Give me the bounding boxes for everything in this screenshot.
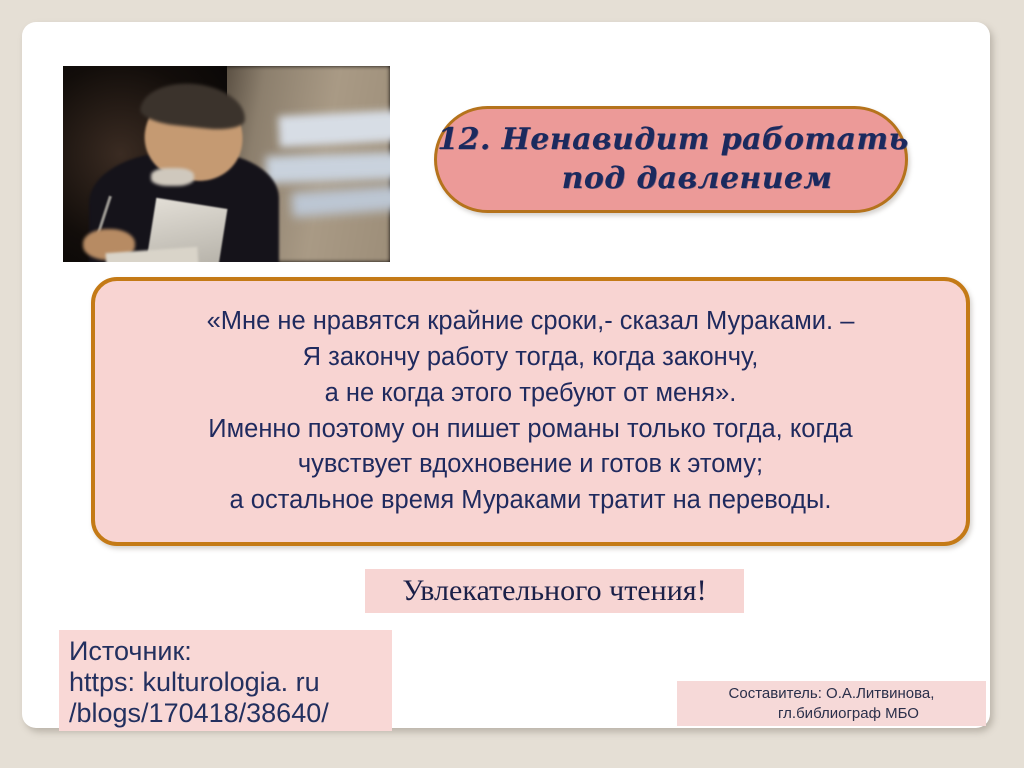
murakami-photo bbox=[63, 66, 390, 262]
compiler-role: гл.библиограф МБО bbox=[778, 704, 919, 724]
slide-card: 12. Ненавидит работать под давлением «Мн… bbox=[22, 22, 990, 728]
read-banner-text: Увлекательного чтения! bbox=[402, 576, 706, 606]
quote-box: «Мне не нравятся крайние сроки,- сказал … bbox=[91, 277, 970, 546]
quote-line: Я закончу работу тогда, когда закончу, bbox=[207, 340, 855, 376]
quote-line: чувствует вдохновение и готов к этому; bbox=[207, 447, 855, 483]
photo-paper-stack bbox=[265, 152, 390, 184]
source-url-line-1[interactable]: https: kulturologia. ru bbox=[69, 667, 392, 698]
photo-paper-stack bbox=[278, 110, 390, 148]
slide-title-line-1: 12. Ненавидит работать bbox=[437, 122, 908, 159]
quote-line: а остальное время Мураками тратит на пер… bbox=[207, 483, 855, 519]
source-box: Источник: https: kulturologia. ru /blogs… bbox=[59, 630, 392, 731]
quote-line: Именно поэтому он пишет романы только то… bbox=[207, 412, 855, 448]
read-banner: Увлекательного чтения! bbox=[365, 569, 744, 613]
compiler-name: Составитель: О.А.Литвинова, bbox=[729, 684, 935, 704]
source-url-line-2[interactable]: /blogs/170418/38640/ bbox=[69, 698, 392, 729]
slide-title-line-2: под давлением bbox=[562, 161, 833, 198]
source-label: Источник: bbox=[69, 636, 392, 667]
slide-title-pill: 12. Ненавидит работать под давлением bbox=[434, 106, 908, 213]
quote-line: а не когда этого требуют от меня». bbox=[207, 376, 855, 412]
photo-person-collar bbox=[151, 168, 194, 186]
quote-text: «Мне не нравятся крайние сроки,- сказал … bbox=[191, 304, 871, 518]
quote-line: «Мне не нравятся крайние сроки,- сказал … bbox=[207, 304, 855, 340]
compiler-credit-box: Составитель: О.А.Литвинова, гл.библиогра… bbox=[677, 681, 986, 726]
slide-root: 12. Ненавидит работать под давлением «Мн… bbox=[0, 0, 1024, 768]
